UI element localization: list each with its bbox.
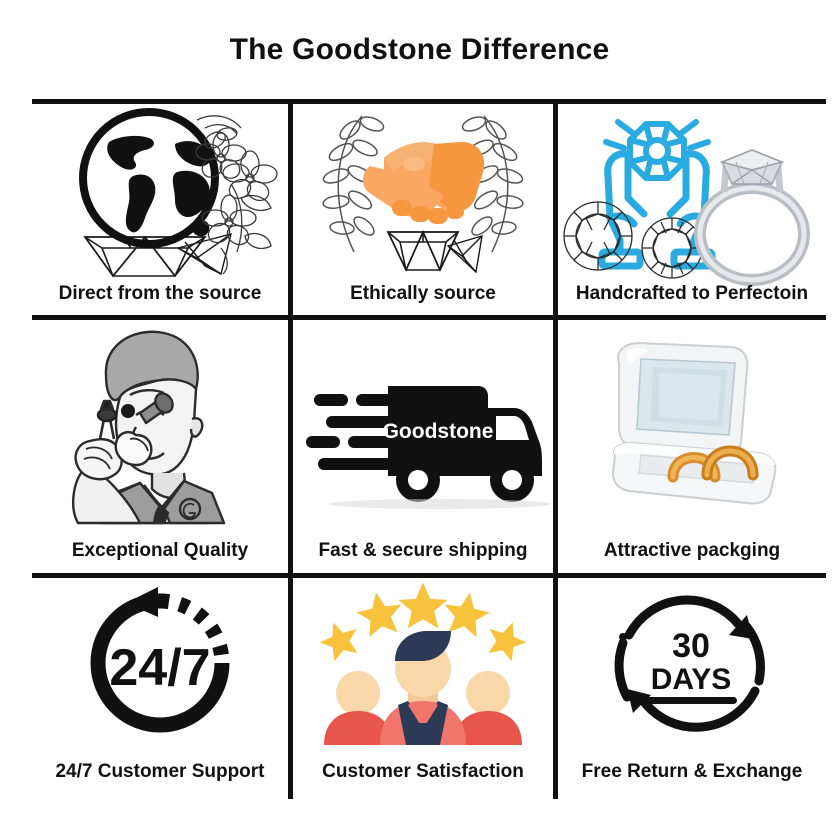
feature-cell-direct-from-the-source[interactable]: Direct from the source (32, 104, 288, 315)
feature-cell-handcrafted-to-perfectoin[interactable]: Handcrafted to Perfectoin (558, 104, 826, 315)
twentyfour-seven-icon: 24/7 (32, 578, 288, 750)
feature-label-attractive-packging: Attractive packging (558, 540, 826, 562)
five-stars-people-icon (293, 578, 553, 750)
feature-cell-free-return-exchange[interactable]: 30 DAYS Free Return & Exchange (558, 578, 826, 799)
globe-flowers-diamond-icon (32, 104, 288, 279)
twentyfour-seven-text: 24/7 (109, 639, 210, 697)
infographic-page: The Goodstone Difference (0, 0, 839, 839)
delivery-truck-icon: Goodstone (293, 320, 553, 525)
feature-grid: Direct from the source (32, 99, 826, 799)
page-title: The Goodstone Difference (0, 33, 839, 67)
jeweler-loupe-icon (32, 320, 288, 525)
feature-cell-ethically-source[interactable]: Ethically source (293, 104, 553, 315)
truck-brand-text: Goodstone (383, 420, 494, 443)
handshake-laurel-diamond-icon (293, 104, 553, 279)
feature-cell-customer-satisfaction[interactable]: Customer Satisfaction (293, 578, 553, 799)
feature-cell-24-7-customer-support[interactable]: 24/7 24/7 Customer Support (32, 578, 288, 799)
feature-label-ethically-source: Ethically source (293, 283, 553, 305)
feature-label-24-7-customer-support: 24/7 Customer Support (32, 761, 288, 783)
feature-label-exceptional-quality: Exceptional Quality (32, 540, 288, 562)
hands-gem-ring-icon (558, 104, 826, 279)
feature-label-free-return-exchange: Free Return & Exchange (558, 761, 826, 783)
feature-cell-attractive-packging[interactable]: Attractive packging (558, 320, 826, 573)
feature-cell-fast-secure-shipping[interactable]: Goodstone Fast & secure shipping (293, 320, 553, 573)
thirty-days-underline (645, 697, 737, 704)
ring-box-icon (558, 320, 826, 525)
feature-cell-exceptional-quality[interactable]: Exceptional Quality (32, 320, 288, 573)
feature-label-direct-from-the-source: Direct from the source (32, 283, 288, 305)
feature-label-fast-secure-shipping: Fast & secure shipping (293, 540, 553, 562)
thirty-days-number: 30 (672, 627, 710, 665)
feature-label-customer-satisfaction: Customer Satisfaction (293, 761, 553, 783)
thirty-days-return-icon: 30 DAYS (558, 578, 826, 750)
feature-label-handcrafted-to-perfectoin: Handcrafted to Perfectoin (558, 283, 826, 305)
thirty-days-unit: DAYS (651, 663, 732, 696)
